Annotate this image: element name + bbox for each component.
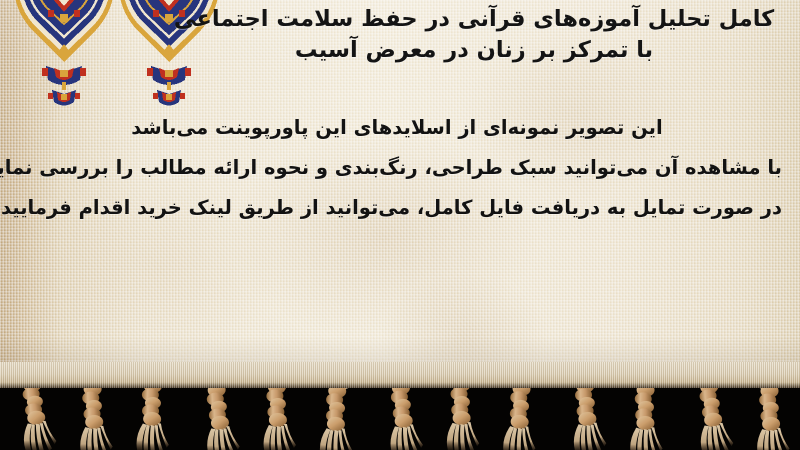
slide-body-line-3: در صورت تمایل به دریافت فایل کامل، می‌تو…: [12, 188, 782, 228]
knotted-carpet-fringe: [0, 362, 800, 450]
presentation-slide: کامل تحلیل آموزه‌های قرآنی در حفظ سلامت …: [0, 0, 800, 450]
slide-body-line-1: این تصویر نمونه‌ای از اسلایدهای این پاور…: [12, 108, 782, 148]
slide-title-line-1: کامل تحلیل آموزه‌های قرآنی در حفظ سلامت …: [164, 4, 784, 34]
slide-title: کامل تحلیل آموزه‌های قرآنی در حفظ سلامت …: [164, 4, 784, 65]
persian-carpet-medallion-ornament: [8, 0, 120, 112]
slide-body-text: این تصویر نمونه‌ای از اسلایدهای این پاور…: [12, 108, 782, 228]
slide-body-line-2: با مشاهده آن می‌توانید سبک طراحی، رنگ‌بن…: [12, 148, 782, 188]
fringe-cloth-edge: [0, 362, 800, 388]
slide-title-line-2: با تمرکز بر زنان در معرض آسیب: [164, 35, 784, 65]
